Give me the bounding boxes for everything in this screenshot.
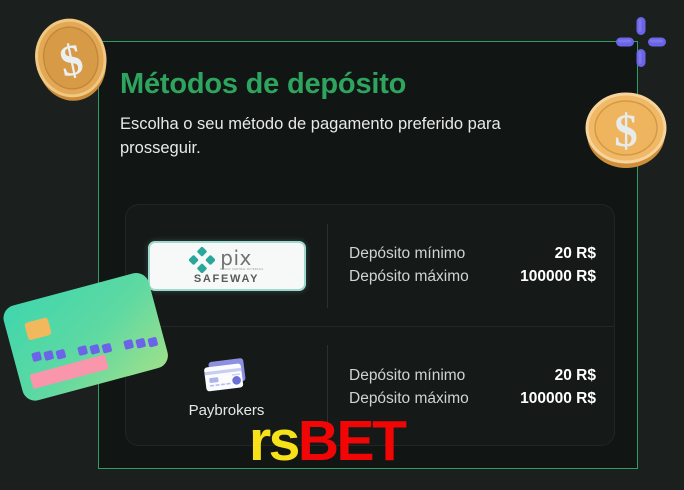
page-title: Métodos de depósito [120, 69, 590, 99]
payment-method-row-pix[interactable]: pix BANCO CENTRAL DO BRASIL SAFEWAY Depó… [126, 205, 614, 326]
heading-block: Métodos de depósito Escolha o seu método… [120, 69, 590, 161]
pix-tagline: BANCO CENTRAL DO BRASIL [220, 269, 263, 272]
max-deposit-line: Depósito máximo 100000 R$ [349, 390, 596, 408]
min-deposit-label: Depósito mínimo [349, 245, 465, 263]
min-deposit-label: Depósito mínimo [349, 367, 465, 385]
max-deposit-line: Depósito máximo 100000 R$ [349, 268, 596, 286]
credit-cards-icon [199, 356, 255, 396]
min-deposit-value: 20 R$ [555, 367, 596, 385]
pix-wordmark: pix [220, 248, 252, 268]
modal-content: Métodos de depósito Escolha o seu método… [99, 42, 637, 468]
safeway-wordmark: SAFEWAY [194, 274, 259, 285]
max-deposit-label: Depósito máximo [349, 390, 469, 408]
min-deposit-line: Depósito mínimo 20 R$ [349, 367, 596, 385]
max-deposit-label: Depósito máximo [349, 268, 469, 286]
pix-limits-cell: Depósito mínimo 20 R$ Depósito máximo 10… [328, 205, 614, 326]
rsbet-logo: rs BET [249, 413, 404, 470]
pix-logo-cell: pix BANCO CENTRAL DO BRASIL SAFEWAY [126, 205, 327, 326]
svg-text:$: $ [55, 34, 87, 87]
pix-logo-top: pix BANCO CENTRAL DO BRASIL [189, 247, 263, 273]
min-deposit-value: 20 R$ [555, 245, 596, 263]
max-deposit-value: 100000 R$ [520, 390, 596, 408]
pix-diamond-icon [189, 247, 215, 273]
rsbet-logo-rs: rs [249, 413, 298, 470]
page-subtitle: Escolha o seu método de pagamento prefer… [120, 113, 570, 161]
pix-safeway-logo: pix BANCO CENTRAL DO BRASIL SAFEWAY [148, 241, 306, 291]
min-deposit-line: Depósito mínimo 20 R$ [349, 245, 596, 263]
max-deposit-value: 100000 R$ [520, 268, 596, 286]
screen-root: Métodos de depósito Escolha o seu método… [0, 0, 684, 490]
rsbet-logo-bet: BET [298, 413, 405, 470]
deposit-methods-modal: Métodos de depósito Escolha o seu método… [98, 41, 638, 469]
